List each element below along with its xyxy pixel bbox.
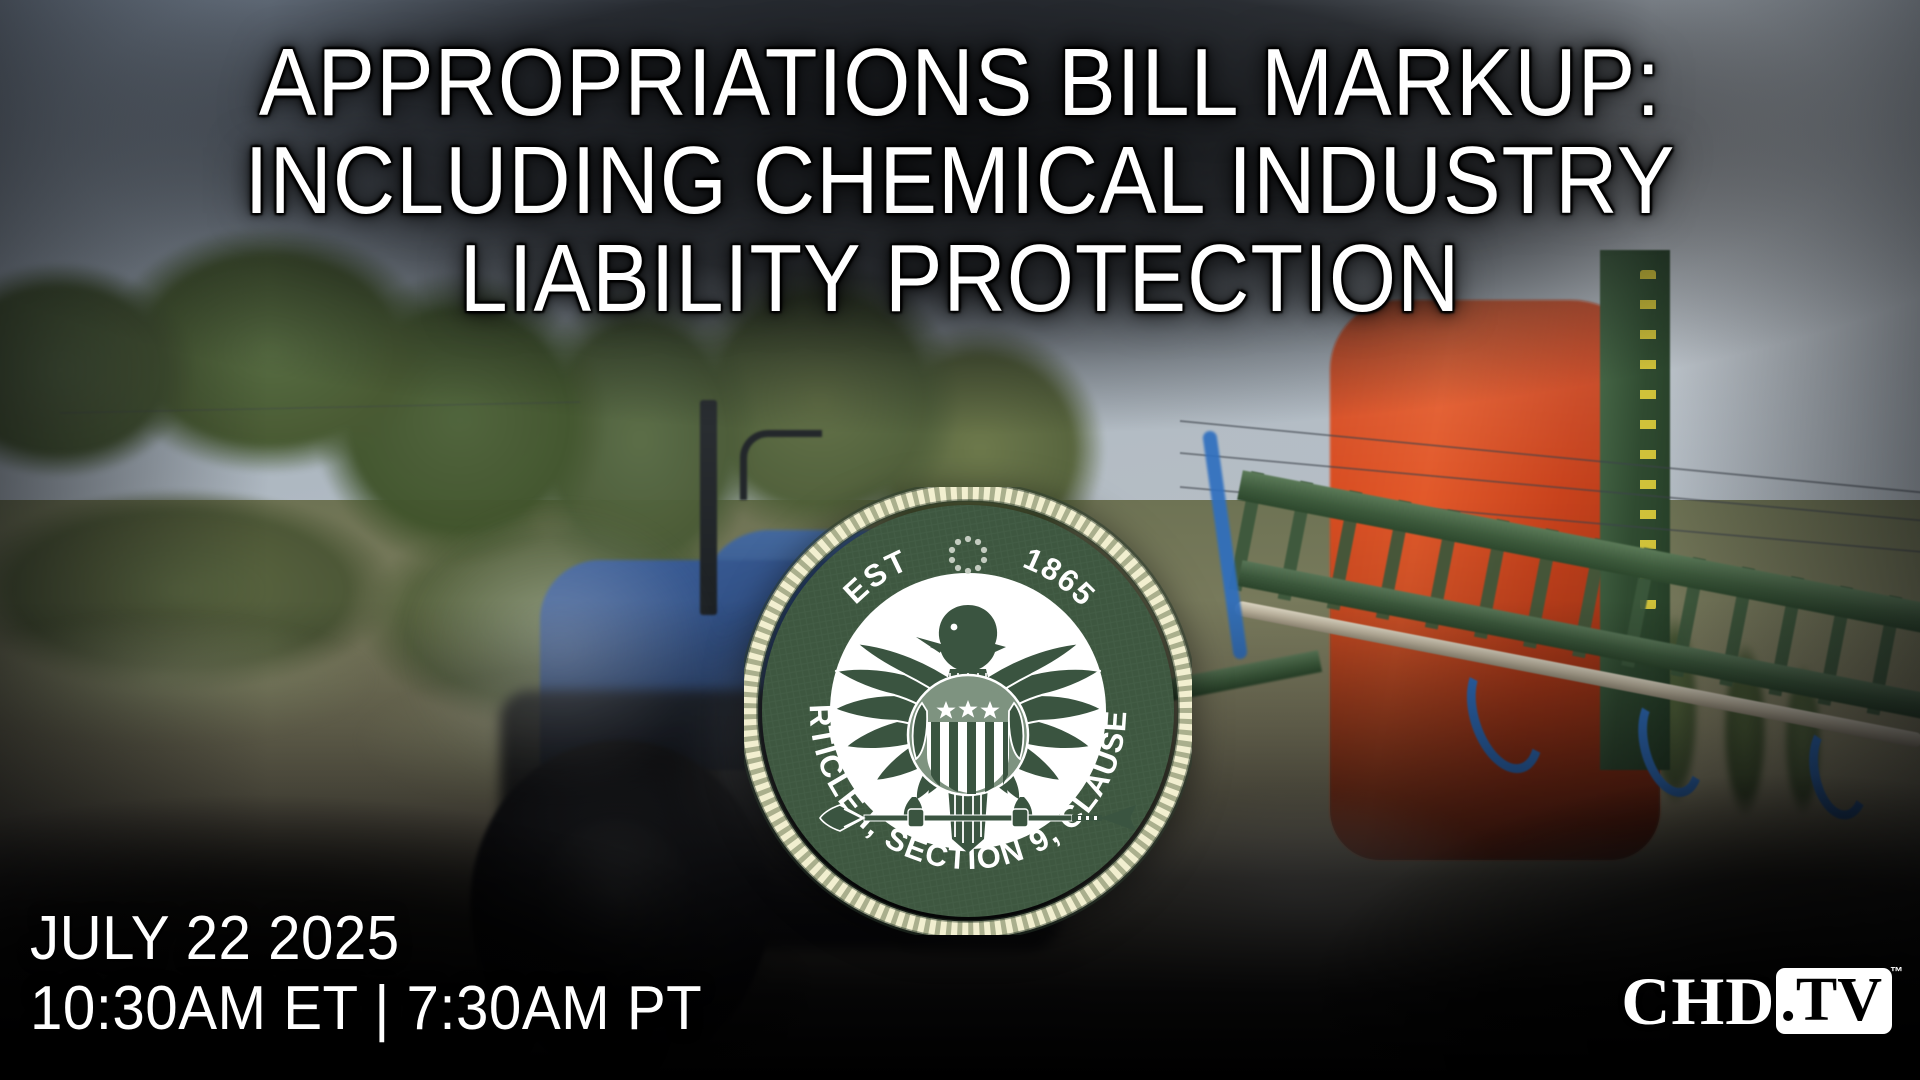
event-title: APPROPRIATIONS BILL MARKUP: INCLUDING CH… bbox=[0, 34, 1920, 328]
logo-brand-text: CHD bbox=[1621, 967, 1775, 1035]
logo-tv-badge: .TV ™ bbox=[1776, 968, 1892, 1034]
title-line-2: INCLUDING CHEMICAL INDUSTRY bbox=[96, 132, 1824, 230]
chdtv-logo[interactable]: CHD .TV ™ bbox=[1621, 966, 1892, 1036]
event-date: JULY 22 2025 bbox=[30, 904, 702, 974]
event-schedule: JULY 22 2025 10:30AM ET | 7:30AM PT bbox=[30, 904, 745, 1044]
eagle-shield bbox=[908, 675, 1028, 795]
logo-suffix-text: .TV bbox=[1780, 969, 1882, 1031]
congressional-seal: EST 1865 ARTICLE I, SECTION 9, CLAUSE 7 bbox=[744, 487, 1192, 935]
title-line-1: APPROPRIATIONS BILL MARKUP: bbox=[96, 34, 1824, 132]
title-line-3: LIABILITY PROTECTION bbox=[96, 230, 1824, 328]
event-time: 10:30AM ET | 7:30AM PT bbox=[30, 974, 702, 1044]
promo-graphic: APPROPRIATIONS BILL MARKUP: INCLUDING CH… bbox=[0, 0, 1920, 1080]
trademark-symbol: ™ bbox=[1890, 965, 1903, 978]
